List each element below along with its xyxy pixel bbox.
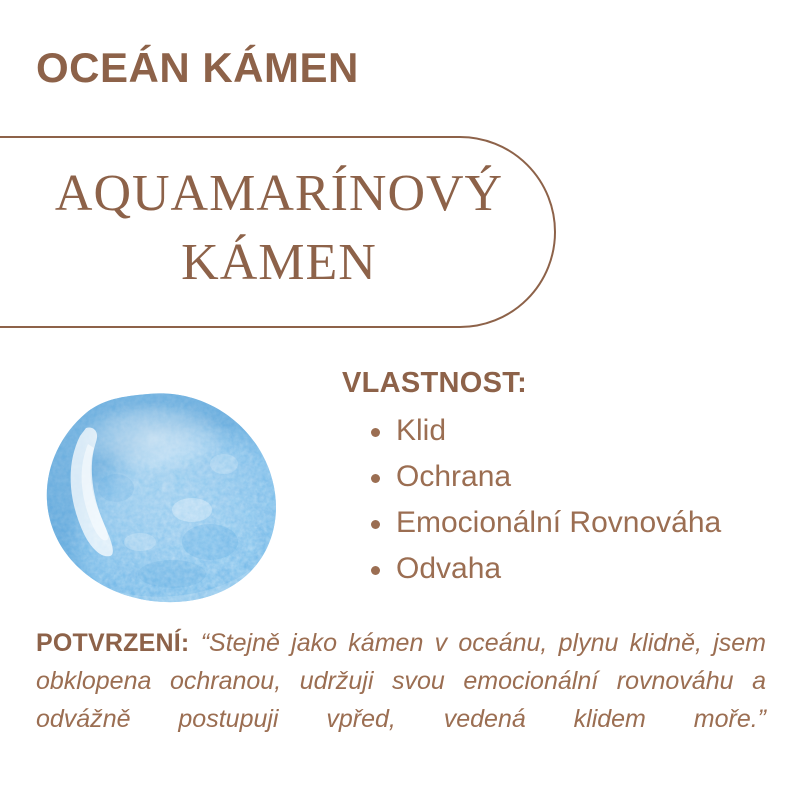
aquamarine-stone-image xyxy=(44,392,284,604)
property-label: Ochrana xyxy=(396,460,511,493)
affirmation-label: POTVRZENÍ: xyxy=(36,629,189,657)
crystal-info-card: OCEÁN KÁMEN AQUAMARÍNOVÝ KÁMEN xyxy=(0,0,800,800)
properties-section: VLASTNOST: Klid Ochrana Emocionální Rovn… xyxy=(342,368,782,592)
headline: AQUAMARÍNOVÝ KÁMEN xyxy=(14,160,544,297)
property-item: Emocionální Rovnováha xyxy=(342,500,782,546)
bullet-icon xyxy=(371,520,380,529)
headline-line-1: AQUAMARÍNOVÝ xyxy=(14,160,544,229)
aquamarine-stone-icon xyxy=(44,392,284,604)
page-title: OCEÁN KÁMEN xyxy=(36,46,359,90)
bullet-icon xyxy=(371,474,380,483)
bullet-icon xyxy=(371,566,380,575)
affirmation-section: POTVRZENÍ: “Stejně jako kámen v oceánu, … xyxy=(36,624,766,776)
property-item: Ochrana xyxy=(342,454,782,500)
property-item: Odvaha xyxy=(342,546,782,592)
bullet-icon xyxy=(371,428,380,437)
headline-line-2: KÁMEN xyxy=(14,229,544,298)
property-label: Odvaha xyxy=(396,552,501,585)
properties-list: Klid Ochrana Emocionální Rovnováha Odvah… xyxy=(342,408,782,592)
property-label: Klid xyxy=(396,414,446,447)
property-label: Emocionální Rovnováha xyxy=(396,506,721,539)
property-item: Klid xyxy=(342,408,782,454)
properties-title: VLASTNOST: xyxy=(342,368,782,400)
